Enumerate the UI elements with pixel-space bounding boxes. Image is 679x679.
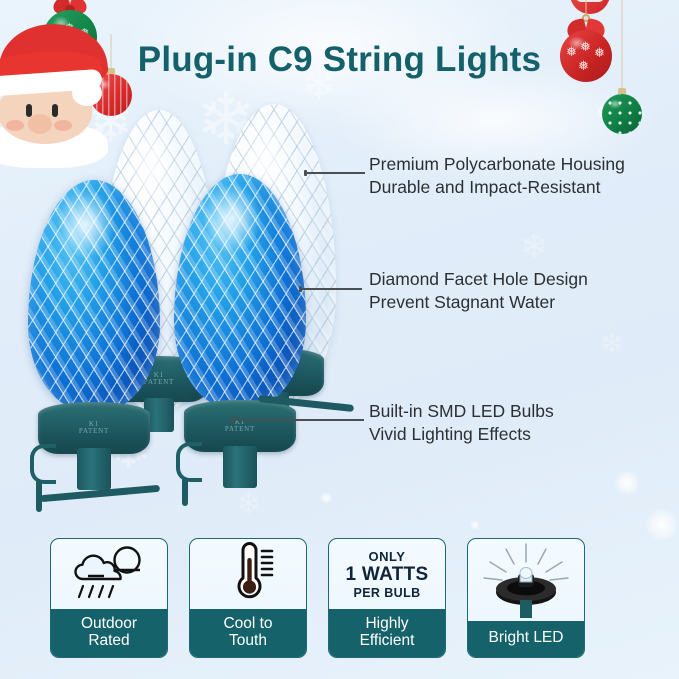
bokeh-glow xyxy=(470,520,480,530)
annotation-2-line2: Prevent Stagnant Water xyxy=(369,291,588,314)
bulb-blue-front-left: K1PATENT xyxy=(28,180,160,510)
badge-label: Cool to Touth xyxy=(190,609,306,657)
badge-label-line1: Outdoor xyxy=(53,616,165,633)
badge-label-line1: Highly xyxy=(331,616,443,633)
snowflake-icon: ❄ xyxy=(520,230,549,264)
badge-icon-area xyxy=(51,539,167,609)
badge-bright-led[interactable]: Bright LED xyxy=(467,538,585,658)
cloud-sun-rain-icon xyxy=(70,543,148,605)
feature-badge-row: Outdoor Rated xyxy=(50,538,630,660)
watt-per-bulb-label: PER BULB xyxy=(345,586,428,600)
bokeh-glow xyxy=(645,508,679,542)
badge-label-line1: Bright LED xyxy=(470,630,582,647)
badge-label-line2: Rated xyxy=(53,633,165,650)
annotation-3: Built-in SMD LED Bulbs Vivid Lighting Ef… xyxy=(369,400,554,447)
annotation-3-line1: Built-in SMD LED Bulbs xyxy=(369,400,554,423)
annotation-2-line1: Diamond Facet Hole Design xyxy=(369,268,588,291)
leader-line-2 xyxy=(300,288,362,290)
badge-label-line2: Efficient xyxy=(331,633,443,650)
leader-line-1 xyxy=(305,172,365,174)
annotation-3-line2: Vivid Lighting Effects xyxy=(369,423,554,446)
watt-value-label: 1 WATTS xyxy=(345,564,428,586)
badge-label: Outdoor Rated xyxy=(51,609,167,657)
thermometer-icon xyxy=(217,542,279,606)
badge-label-line1: Cool to xyxy=(192,616,304,633)
annotation-1-line2: Durable and Impact-Resistant xyxy=(369,176,625,199)
bokeh-glow xyxy=(614,470,640,496)
badge-label: Highly Efficient xyxy=(329,609,445,657)
badge-icon-area: ONLY 1 WATTS PER BULB xyxy=(329,539,445,609)
infographic-canvas: ❄ ❄ ❄ ❄ ❄ ❄ ❄ ❄ ❅ ❅ ❅ ❅ ❅ xyxy=(0,0,679,679)
badge-outdoor-rated[interactable]: Outdoor Rated xyxy=(50,538,168,658)
snowflake-icon: ❄ xyxy=(600,330,623,358)
badge-label: Bright LED xyxy=(468,621,584,657)
leader-line-3 xyxy=(232,419,364,421)
badge-icon-area xyxy=(468,539,584,621)
badge-highly-efficient[interactable]: ONLY 1 WATTS PER BULB Highly Efficient xyxy=(328,538,446,658)
watts-text-icon: ONLY 1 WATTS PER BULB xyxy=(345,549,428,600)
page-title: Plug-in C9 String Lights xyxy=(0,40,679,80)
annotation-1: Premium Polycarbonate Housing Durable an… xyxy=(369,153,625,200)
led-bulb-icon xyxy=(476,540,576,620)
annotation-2: Diamond Facet Hole Design Prevent Stagna… xyxy=(369,268,588,315)
badge-label-line2: Touth xyxy=(192,633,304,650)
product-image-c9-bulbs: K1PATENT K1PATENT K1PATENT xyxy=(22,108,352,508)
bulb-blue-front-right: K1PATENT xyxy=(174,174,306,504)
badge-cool-to-touch[interactable]: Cool to Touth xyxy=(189,538,307,658)
badge-icon-area xyxy=(190,539,306,609)
annotation-1-line1: Premium Polycarbonate Housing xyxy=(369,153,625,176)
watt-only-label: ONLY xyxy=(345,549,428,564)
